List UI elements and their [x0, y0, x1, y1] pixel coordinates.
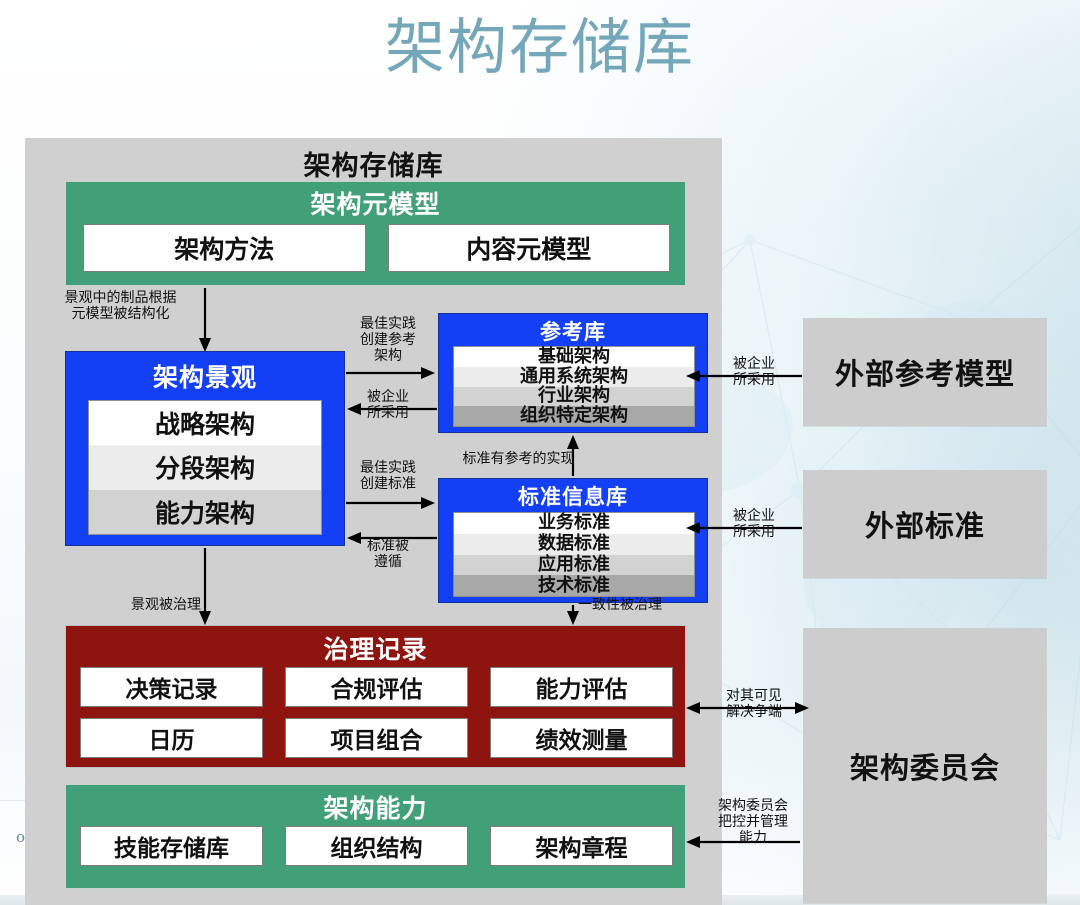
- reference-item-industry[interactable]: 行业架构: [454, 387, 694, 407]
- architecture-metamodel-heading: 架构元模型: [66, 182, 685, 221]
- architecture-repository-panel: 架构存储库 架构元模型 架构方法 内容元模型 架构景观 战略架构 分段架构 能力…: [25, 138, 722, 905]
- reference-library-box[interactable]: 参考库 基础架构 通用系统架构 行业架构 组织特定架构: [438, 313, 708, 433]
- landscape-item-segment[interactable]: 分段架构: [89, 445, 321, 489]
- stray-mark: o: [16, 828, 25, 846]
- architecture-metamodel-items: 架构方法 内容元模型: [83, 224, 670, 272]
- architecture-board-box[interactable]: 架构委员会: [803, 628, 1047, 903]
- standards-information-base-box[interactable]: 标准信息库 业务标准 数据标准 应用标准 技术标准: [438, 478, 708, 603]
- governance-log-items: 决策记录 合规评估 能力评估 日历 项目组合 绩效测量: [80, 667, 673, 758]
- arrow-label-consistency-governed: 一致性被治理: [578, 597, 688, 613]
- standards-item-data[interactable]: 数据标准: [454, 534, 694, 555]
- architecture-landscape-box[interactable]: 架构景观 战略架构 分段架构 能力架构: [65, 351, 345, 546]
- arrow-label-committee-capability: 架构委员会 把控并管理 能力: [708, 798, 798, 846]
- architecture-landscape-heading: 架构景观: [66, 352, 344, 394]
- reference-item-organization-specific[interactable]: 组织特定架构: [454, 406, 694, 426]
- governance-item-capability-assessment[interactable]: 能力评估: [490, 667, 673, 707]
- governance-item-performance-measurement[interactable]: 绩效测量: [490, 718, 673, 758]
- capability-item-org-structure[interactable]: 组织结构: [285, 826, 468, 866]
- governance-item-project-portfolio[interactable]: 项目组合: [285, 718, 468, 758]
- standards-library-items: 业务标准 数据标准 应用标准 技术标准: [453, 512, 695, 597]
- arrow-label-landscape-to-standards: 最佳实践 创建标准: [349, 460, 427, 492]
- landscape-item-capability[interactable]: 能力架构: [89, 490, 321, 534]
- architecture-metamodel-box[interactable]: 架构元模型 架构方法 内容元模型: [65, 181, 686, 286]
- standards-item-business[interactable]: 业务标准: [454, 513, 694, 534]
- external-reference-models-box[interactable]: 外部参考模型: [803, 318, 1047, 426]
- arrow-label-standards-have-reference-implementations: 标准有参考的实现: [431, 451, 606, 467]
- arrow-label-reference-to-landscape: 被企业 所采用: [351, 389, 425, 421]
- page-title: 架构存储库: [0, 8, 1080, 88]
- reference-library-heading: 参考库: [439, 314, 707, 346]
- metamodel-item-architecture-method[interactable]: 架构方法: [83, 224, 366, 272]
- arrow-label-committee-visibility: 对其可见 解决争端: [710, 688, 798, 720]
- reference-library-items: 基础架构 通用系统架构 行业架构 组织特定架构: [453, 346, 695, 427]
- repository-title: 架构存储库: [25, 144, 722, 183]
- governance-item-calendar[interactable]: 日历: [80, 718, 263, 758]
- architecture-capability-items: 技能存储库 组织结构 架构章程: [80, 826, 673, 866]
- landscape-item-strategic[interactable]: 战略架构: [89, 401, 321, 445]
- governance-item-compliance-assessment[interactable]: 合规评估: [285, 667, 468, 707]
- architecture-capability-box[interactable]: 架构能力 技能存储库 组织结构 架构章程: [65, 784, 686, 889]
- capability-item-architecture-charter[interactable]: 架构章程: [490, 826, 673, 866]
- arrow-label-landscape-to-reference: 最佳实践 创建参考 架构: [351, 316, 425, 364]
- external-standards-box[interactable]: 外部标准: [803, 470, 1047, 578]
- standards-item-technology[interactable]: 技术标准: [454, 575, 694, 596]
- reference-item-common-systems[interactable]: 通用系统架构: [454, 367, 694, 387]
- governance-item-decision-log[interactable]: 决策记录: [80, 667, 263, 707]
- arrow-label-landscape-governed: 景观被治理: [97, 597, 201, 613]
- metamodel-item-content-metamodel[interactable]: 内容元模型: [388, 224, 671, 272]
- arrow-label-external-standards-adopted: 被企业 所采用: [716, 508, 792, 540]
- architecture-landscape-items: 战略架构 分段架构 能力架构: [88, 400, 322, 535]
- governance-log-box[interactable]: 治理记录 决策记录 合规评估 能力评估 日历 项目组合 绩效测量: [65, 625, 686, 768]
- arrow-label-standards-to-landscape: 标准被 遵循: [351, 538, 425, 570]
- standards-item-application[interactable]: 应用标准: [454, 555, 694, 576]
- governance-log-heading: 治理记录: [66, 626, 685, 666]
- architecture-capability-heading: 架构能力: [66, 785, 685, 825]
- arrow-label-external-reference-adopted: 被企业 所采用: [716, 356, 792, 388]
- standards-library-heading: 标准信息库: [439, 479, 707, 511]
- arrow-label-metamodel-to-landscape: 景观中的制品根据 元模型被结构化: [43, 290, 198, 322]
- reference-item-foundation[interactable]: 基础架构: [454, 347, 694, 367]
- capability-item-skills-repository[interactable]: 技能存储库: [80, 826, 263, 866]
